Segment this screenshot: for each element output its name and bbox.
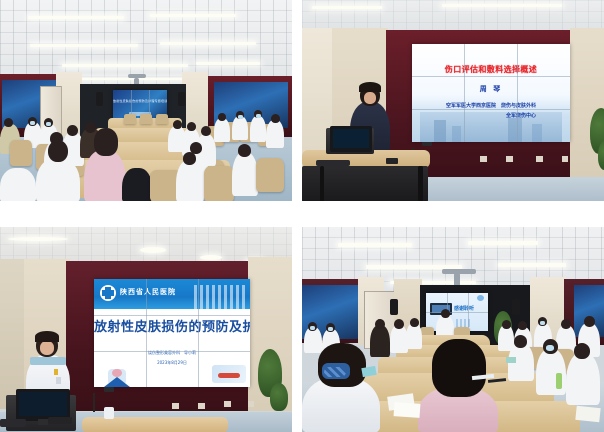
screen-affiliation-line2-top-right: 全军烧伤中心 (412, 114, 570, 119)
photo-collage: 放射性皮肤损伤的预防及护理专题培训 (0, 0, 604, 432)
photo-bottom-left: 陕西省人民医院 放射性皮肤损伤的预防及护理 烧伤整形美容外科 导小莉 2023年… (0, 227, 292, 432)
screen-title-top-left: 放射性皮肤损伤的预防及护理专题培训 (113, 100, 167, 103)
screen-title-bottom-left: 放射性皮肤损伤的预防及护理 (94, 321, 250, 335)
photo-bottom-right: 感谢聆听 (302, 227, 604, 432)
display-screen-bottom-left: 陕西省人民医院 放射性皮肤损伤的预防及护理 烧伤整形美容外科 导小莉 2023年… (94, 279, 250, 387)
photo-top-left: 放射性皮肤损伤的预防及护理专题培训 (0, 0, 292, 201)
screen-title-bottom-right: 感谢聆听 (454, 305, 474, 312)
screen-presenter-top-right: 周 琴 (412, 86, 570, 93)
screen-title-top-right: 伤口评估和敷料选择概述 (412, 66, 570, 74)
screen-header-bottom-left: 陕西省人民医院 (120, 287, 176, 297)
photo-top-right: 伤口评估和敷料选择概述 周 琴 空军军医大学西京医院 烧伤与皮肤外科 全军烧伤中… (302, 0, 604, 201)
display-screen-top-right: 伤口评估和敷料选择概述 周 琴 空军军医大学西京医院 烧伤与皮肤外科 全军烧伤中… (412, 44, 570, 142)
